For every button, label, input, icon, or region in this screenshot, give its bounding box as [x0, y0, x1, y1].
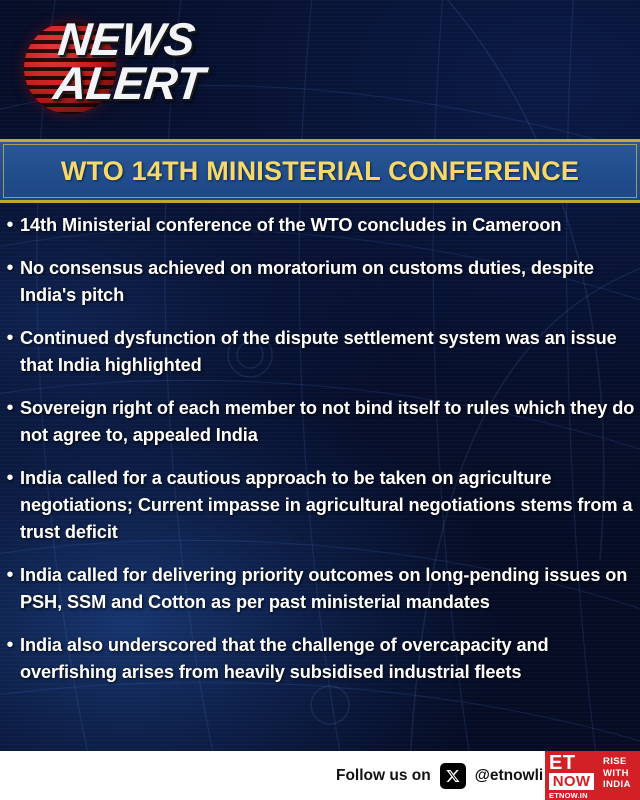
bullet-dot-icon: •	[0, 325, 20, 352]
x-twitter-icon[interactable]	[440, 763, 466, 789]
headline-title: WTO 14TH MINISTERIAL CONFERENCE	[61, 156, 579, 187]
header: NEWS ALERT	[0, 0, 640, 138]
headline-band: WTO 14TH MINISTERIAL CONFERENCE	[0, 139, 640, 203]
bullet-dot-icon: •	[0, 395, 20, 422]
list-item: • No consensus achieved on moratorium on…	[0, 255, 640, 309]
bullet-dot-icon: •	[0, 465, 20, 492]
bullet-dot-icon: •	[0, 255, 20, 282]
news-alert-logo: NEWS ALERT	[51, 18, 210, 105]
etnow-name-bottom: NOW	[549, 773, 594, 790]
bullet-text: 14th Ministerial conference of the WTO c…	[20, 212, 638, 239]
bullet-text: Sovereign right of each member to not bi…	[20, 395, 638, 449]
etnow-tagline-line-3: INDIA	[603, 779, 640, 791]
etnow-tagline-line-1: RISE	[603, 756, 640, 768]
bullet-text: No consensus achieved on moratorium on c…	[20, 255, 638, 309]
etnow-name-top: ET	[549, 754, 594, 772]
footer-bar: Follow us on @etnowlive ET NOW ETNOW.IN …	[0, 751, 640, 800]
bullet-text: Continued dysfunction of the dispute set…	[20, 325, 638, 379]
news-alert-line-2: ALERT	[51, 62, 206, 106]
list-item: • India also underscored that the challe…	[0, 632, 640, 686]
list-item: • India called for a cautious approach t…	[0, 465, 640, 546]
list-item: • Continued dysfunction of the dispute s…	[0, 325, 640, 379]
follow-us-group: Follow us on @etnowlive	[336, 763, 560, 789]
follow-us-label: Follow us on	[336, 767, 431, 785]
list-item: • Sovereign right of each member to not …	[0, 395, 640, 449]
bullet-text: India called for delivering priority out…	[20, 562, 638, 616]
bullet-dot-icon: •	[0, 632, 20, 659]
etnow-tagline-line-2: WITH	[603, 768, 640, 780]
news-alert-graphic: NEWS ALERT WTO 14TH MINISTERIAL CONFEREN…	[0, 0, 640, 800]
etnow-mark: ET NOW ETNOW.IN	[545, 751, 597, 800]
bullet-dot-icon: •	[0, 212, 20, 239]
list-item: • India called for delivering priority o…	[0, 562, 640, 616]
etnow-tagline: RISE WITH INDIA	[597, 751, 640, 800]
list-item: • 14th Ministerial conference of the WTO…	[0, 212, 640, 239]
bullet-list: • 14th Ministerial conference of the WTO…	[0, 212, 640, 702]
bullet-text: India called for a cautious approach to …	[20, 465, 638, 546]
etnow-brand-logo[interactable]: ET NOW ETNOW.IN RISE WITH INDIA	[543, 751, 640, 800]
bullet-dot-icon: •	[0, 562, 20, 589]
bullet-text: India also underscored that the challeng…	[20, 632, 638, 686]
etnow-url: ETNOW.IN	[549, 791, 594, 800]
